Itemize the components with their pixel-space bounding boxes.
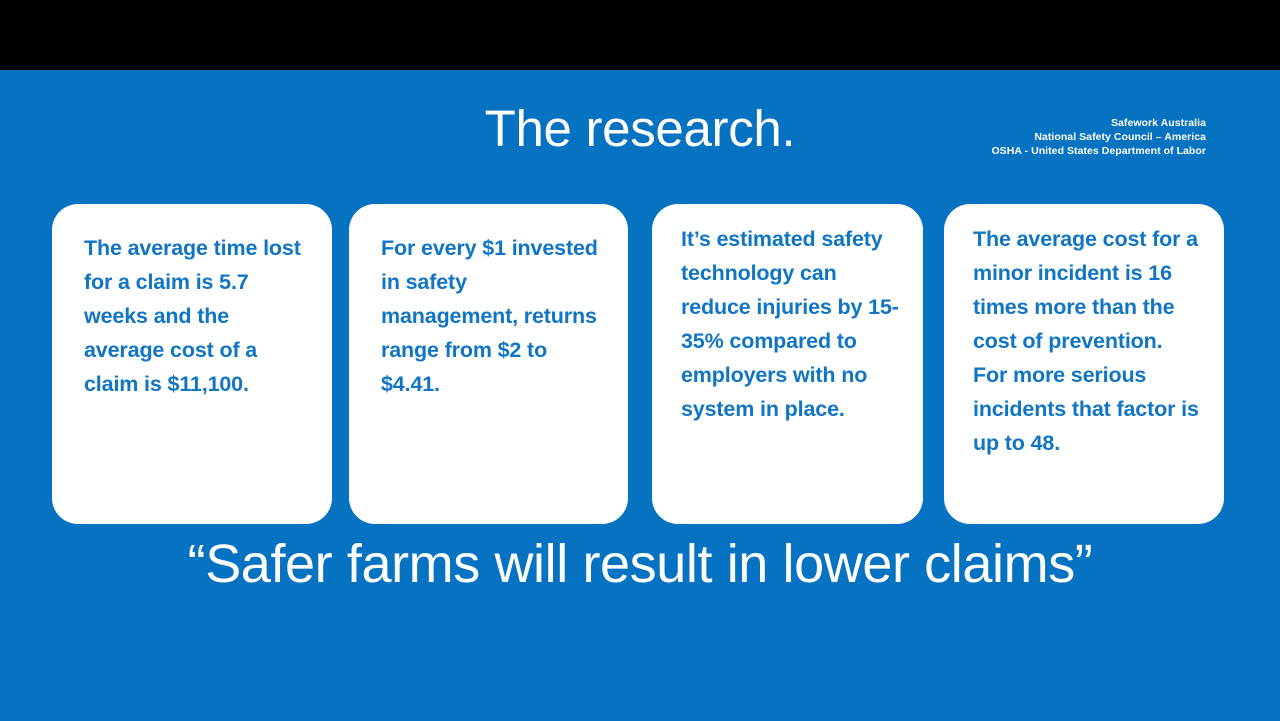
stat-card-text: The average cost for a minor incident is… (973, 222, 1204, 460)
source-line-3: OSHA - United States Department of Labor (991, 145, 1206, 159)
stat-card-safety-technology-injury-reduction: It’s estimated safety technology can red… (652, 204, 923, 524)
slide-root: The research. Safework Australia Nationa… (0, 0, 1280, 721)
letterbox-bar-top (0, 0, 1280, 70)
stat-card-text: The average time lost for a claim is 5.7… (84, 231, 312, 401)
sources-citation-block: Safework Australia National Safety Counc… (991, 117, 1206, 159)
stat-card-time-lost-and-cost: The average time lost for a claim is 5.7… (52, 204, 332, 524)
closing-quote: “Safer farms will result in lower claims… (0, 535, 1280, 594)
stat-card-return-on-investment: For every $1 invested in safety manageme… (349, 204, 628, 524)
stat-card-row: The average time lost for a claim is 5.7… (0, 204, 1280, 524)
source-line-2: National Safety Council – America (991, 131, 1206, 145)
stat-card-incident-vs-prevention-cost: The average cost for a minor incident is… (944, 204, 1224, 524)
source-line-1: Safework Australia (991, 117, 1206, 131)
stat-card-text: For every $1 invested in safety manageme… (381, 231, 608, 401)
stat-card-text: It’s estimated safety technology can red… (681, 222, 903, 426)
slide-canvas: The research. Safework Australia Nationa… (0, 70, 1280, 721)
